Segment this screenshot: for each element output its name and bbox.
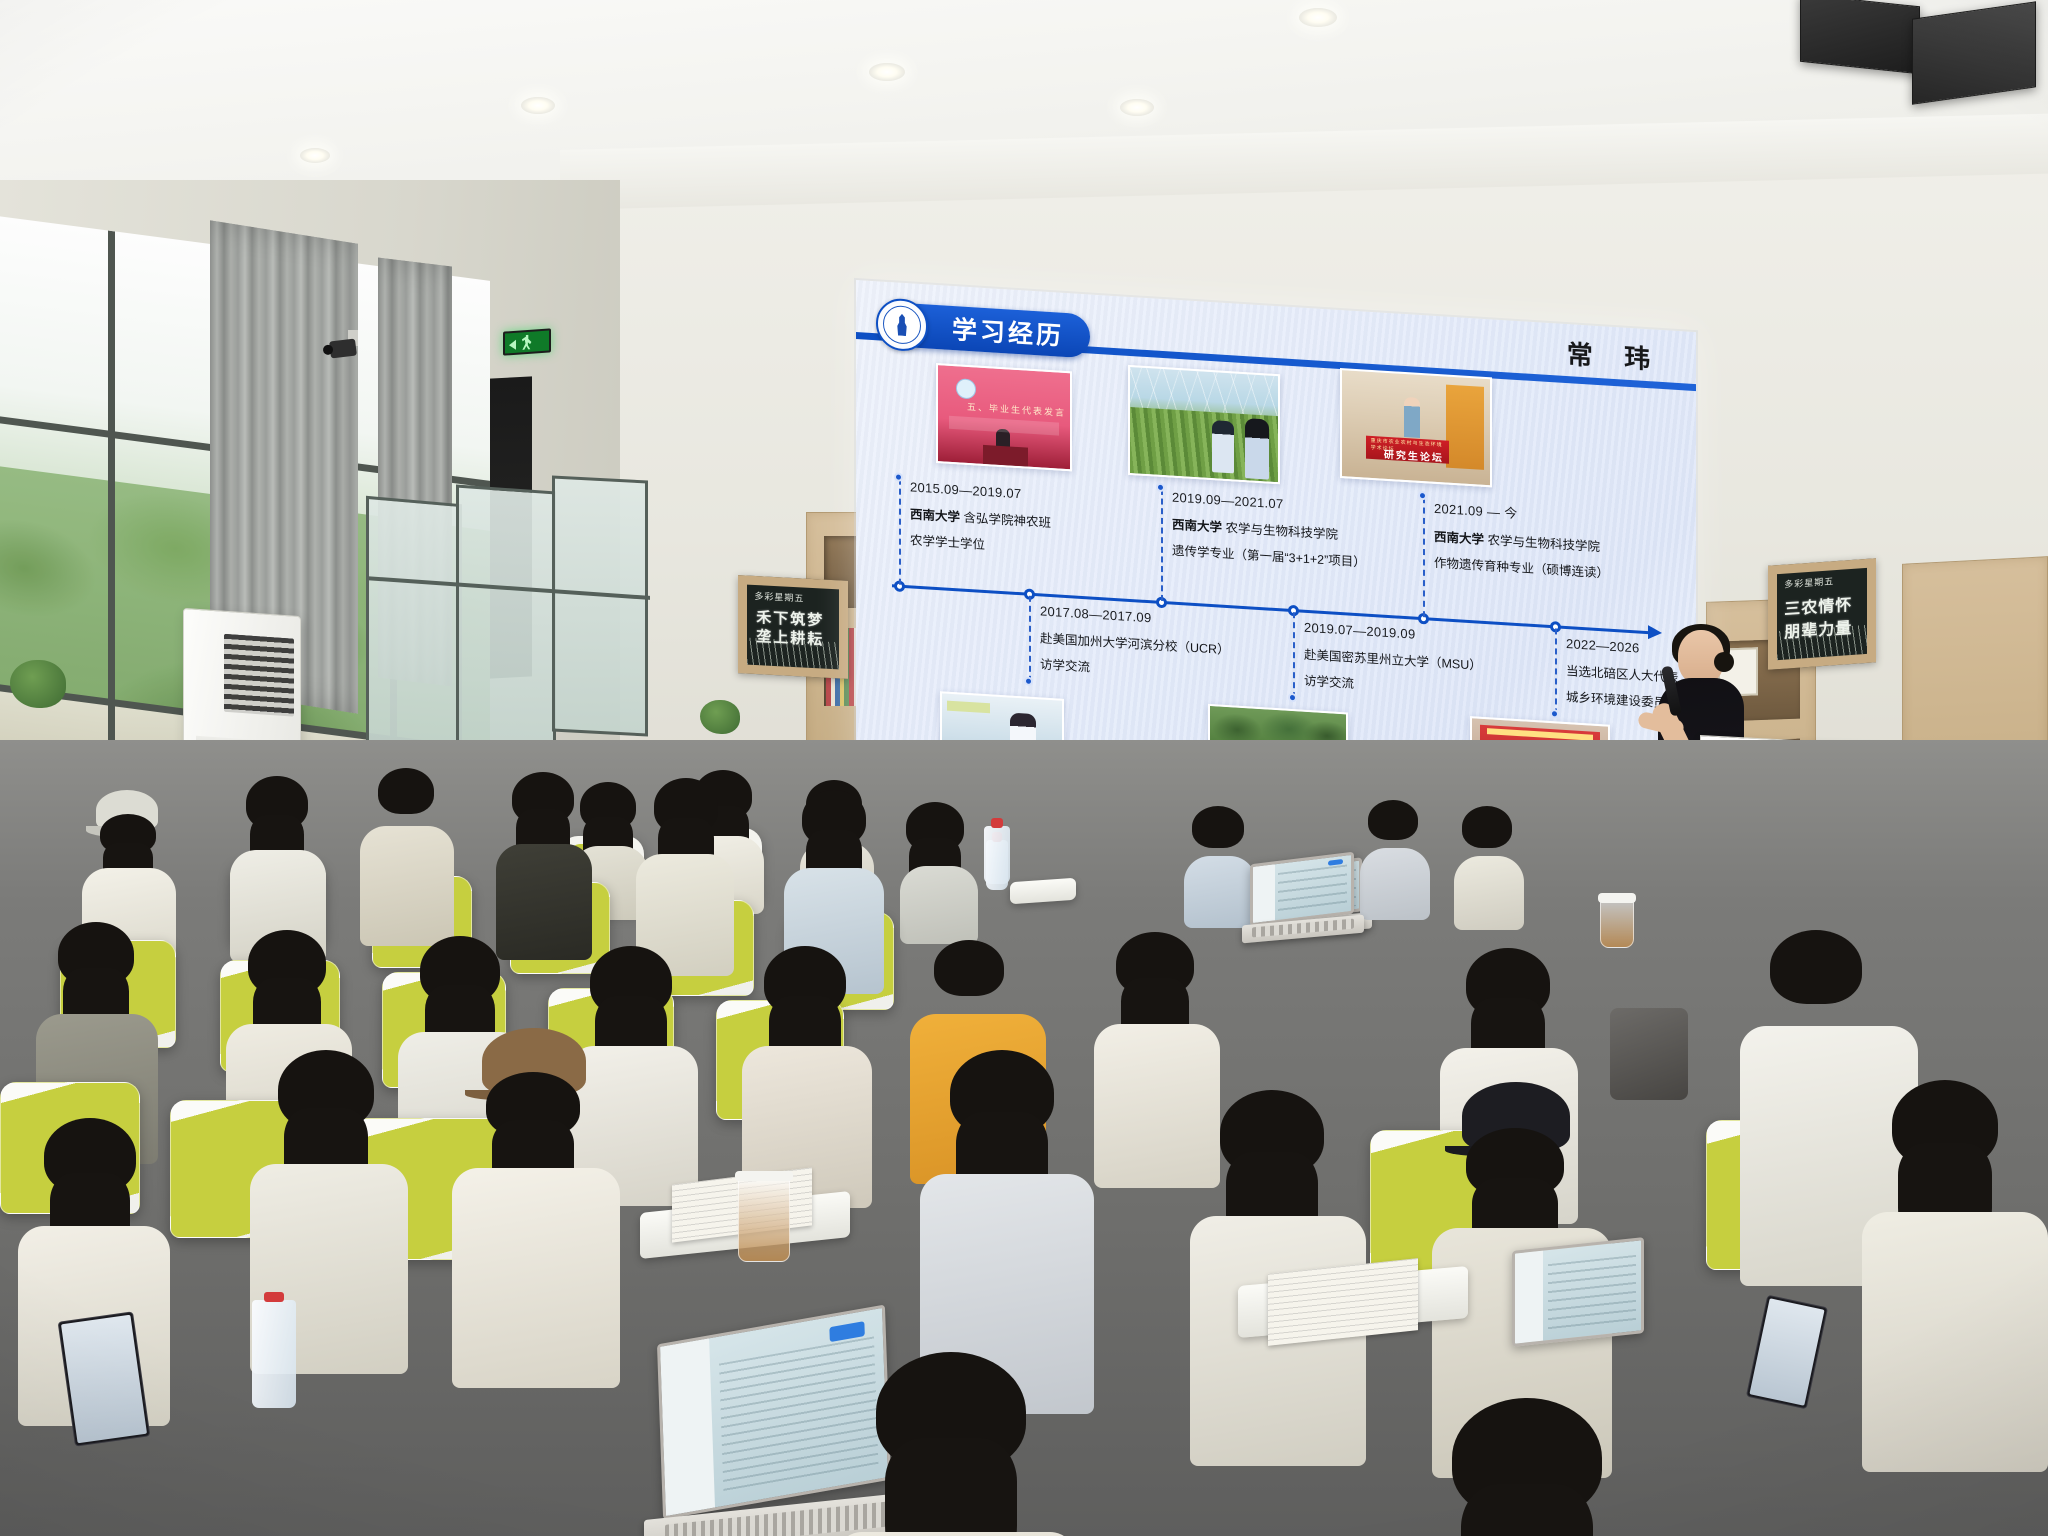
glass-partition-door[interactable] xyxy=(552,475,648,736)
timeline-dot xyxy=(1550,709,1559,719)
torso xyxy=(452,1168,620,1388)
chalkboard-right-header: 多彩星期五 xyxy=(1784,574,1834,590)
hair xyxy=(1770,930,1862,1004)
ac-vent xyxy=(224,634,294,717)
timeline-org-detail: 农学与生物科技学院 xyxy=(1222,521,1338,542)
timeline-connector xyxy=(899,479,901,585)
timeline-connector xyxy=(1423,497,1425,617)
chalk-grass-drawing xyxy=(747,637,839,669)
ceiling-downlight xyxy=(1120,99,1154,116)
hair xyxy=(1368,800,1418,840)
timeline-org: 西南大学 xyxy=(910,507,960,524)
torso xyxy=(836,1532,1076,1536)
forum-banner-text: 研究生论坛 xyxy=(1384,446,1444,465)
security-camera-icon xyxy=(329,338,357,358)
hair xyxy=(486,1072,580,1138)
hair xyxy=(580,782,636,830)
timeline-entry: 2019.07—2019.09 赴美国密苏里州立大学（MSU） 访学交流 xyxy=(1304,620,1542,704)
hair xyxy=(764,946,846,1016)
timeline-org: 西南大学 xyxy=(1434,530,1484,547)
potted-plant xyxy=(700,700,740,734)
hair xyxy=(934,940,1004,996)
water-bottle xyxy=(252,1300,296,1408)
hair xyxy=(876,1352,1026,1472)
timeline-entry: 2019.09—2021.07 西南大学 农学与生物科技学院 遗传学专业（第一届… xyxy=(1172,490,1410,574)
presenter-hair-bun xyxy=(1714,652,1734,672)
torso xyxy=(1862,1212,2048,1472)
chalkboard-left-header: 多彩星期五 xyxy=(754,589,804,605)
water-bottle xyxy=(984,826,1010,884)
hair xyxy=(420,936,500,1004)
iced-drink-cup xyxy=(738,1178,790,1262)
timeline-date: 2021.09 — 今 xyxy=(1434,498,1672,532)
hair xyxy=(1892,1080,1998,1168)
window-mullion xyxy=(108,231,115,792)
chalk-grass-drawing xyxy=(1777,625,1867,661)
backpack xyxy=(1610,1008,1688,1100)
timeline-entry: 2017.08—2017.09 赴美国加州大学河滨分校（UCR） 访学交流 xyxy=(1040,603,1278,687)
glass-partition-door[interactable] xyxy=(456,485,556,754)
tablet-arm xyxy=(1010,878,1076,905)
timeline-org-detail: 农学与生物科技学院 xyxy=(1484,533,1600,554)
timeline-connector xyxy=(1555,628,1557,714)
hair xyxy=(802,790,866,846)
hair xyxy=(378,768,434,814)
hair xyxy=(1116,932,1194,996)
hair xyxy=(278,1050,374,1130)
ceiling-speaker xyxy=(1912,1,2036,104)
ceiling-downlight xyxy=(300,148,330,163)
torso xyxy=(1184,856,1256,928)
hair xyxy=(654,778,718,834)
ceiling-downlight xyxy=(869,63,905,81)
hair xyxy=(1462,806,1512,848)
ceiling-downlight xyxy=(1299,8,1337,27)
torso xyxy=(360,826,454,946)
torso xyxy=(1094,1024,1220,1188)
hair xyxy=(1466,948,1550,1018)
timeline-dot xyxy=(894,472,903,482)
chalkboard-right: 多彩星期五 三农情怀 朋辈力量 xyxy=(1768,558,1876,670)
torso xyxy=(1360,848,1430,920)
timeline-connector xyxy=(1293,612,1295,698)
potted-plant xyxy=(10,660,66,708)
ceiling-speaker xyxy=(1800,0,1920,74)
hair xyxy=(590,946,672,1016)
emergency-exit-sign-icon xyxy=(503,328,551,355)
timeline-dot xyxy=(1024,676,1033,686)
hair xyxy=(44,1118,136,1194)
torso xyxy=(1454,856,1524,930)
hair xyxy=(1466,1128,1564,1198)
torso xyxy=(496,844,592,960)
lecture-hall-scene: 多彩星期五 禾下筑梦 垄上耕耘 多彩星期五 三农情怀 朋辈力量 学习经历 常 玮 xyxy=(0,0,2048,1536)
hair xyxy=(1220,1090,1324,1176)
glass-partition-door[interactable] xyxy=(366,496,462,764)
hair xyxy=(100,814,156,854)
timeline-entry: 2015.09—2019.07 西南大学 含弘学院神农班 农学学士学位 xyxy=(910,479,1148,563)
hair xyxy=(58,922,134,986)
chalkboard-left: 多彩星期五 禾下筑梦 垄上耕耘 xyxy=(738,575,848,679)
timeline-dot xyxy=(1156,483,1165,493)
hair xyxy=(1452,1398,1602,1518)
slide-presenter-name: 常 玮 xyxy=(1567,334,1662,377)
award-ceremony-photo: 五、毕业生代表发言 xyxy=(936,363,1072,471)
timeline-connector xyxy=(1029,596,1031,682)
timeline-dot xyxy=(1288,693,1297,703)
timeline-connector xyxy=(1161,489,1163,601)
hair xyxy=(512,772,574,824)
hair xyxy=(248,930,326,996)
ceiling-downlight xyxy=(521,97,555,114)
timeline-org-detail: 含弘学院神农班 xyxy=(960,510,1051,530)
timeline-dot xyxy=(1418,491,1427,501)
hair xyxy=(950,1050,1054,1136)
hair xyxy=(906,802,964,852)
timeline-org: 西南大学 xyxy=(1172,518,1222,535)
hair xyxy=(1192,806,1244,848)
drink-cup xyxy=(1600,900,1634,948)
forum-podium-photo: 重庆市农业农村与生态环境学术论坛 研究生论坛 xyxy=(1340,368,1492,487)
torso xyxy=(900,866,978,944)
greenhouse-field-photo xyxy=(1128,365,1280,484)
award-photo-caption: 五、毕业生代表发言 xyxy=(967,400,1066,419)
hair xyxy=(246,776,308,830)
timeline-entry: 2021.09 — 今 西南大学 农学与生物科技学院 作物遗传育种专业（硕博连读… xyxy=(1434,498,1672,586)
